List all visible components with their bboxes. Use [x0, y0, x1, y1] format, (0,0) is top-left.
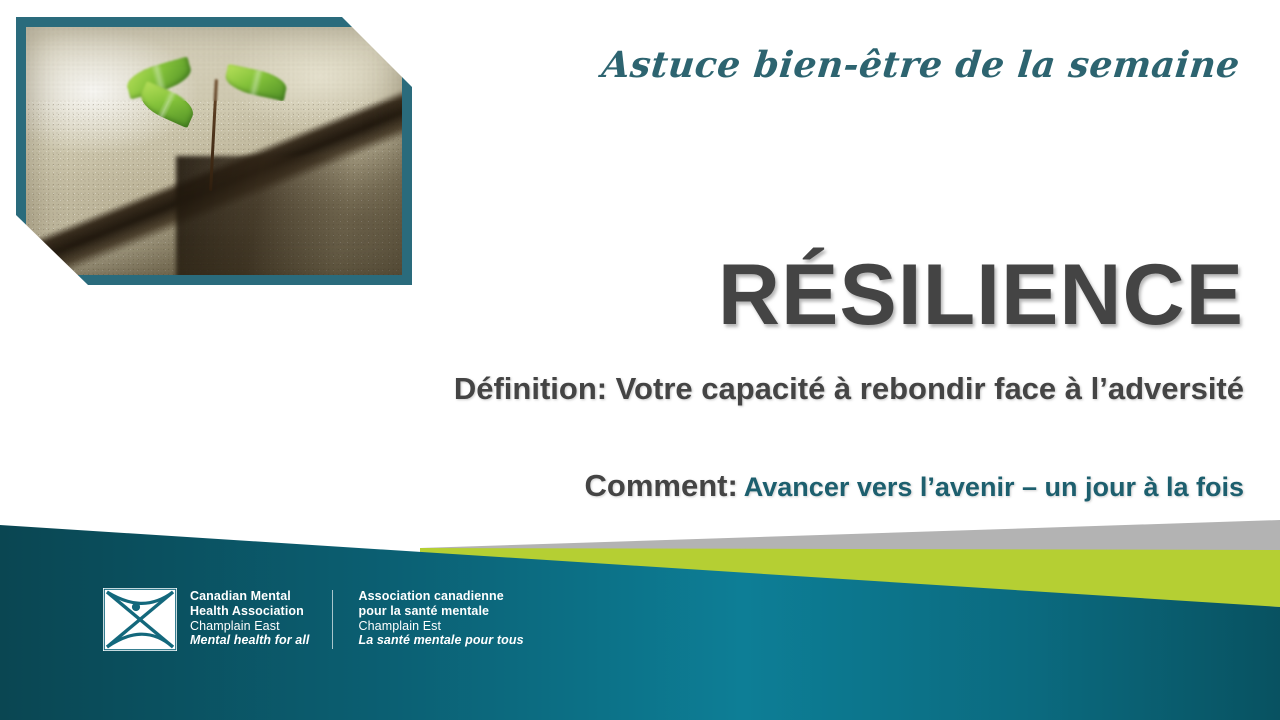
banner-gray-wedge: [420, 520, 1280, 550]
comment-row: Comment:Avancer vers l’avenir – un jour …: [585, 468, 1245, 504]
slide-canvas: Astuce bien-être de la semaine RÉSILIENC…: [0, 0, 1280, 720]
comment-label: Comment:: [585, 468, 738, 503]
slide-kicker-title: Astuce bien-être de la semaine: [600, 44, 1242, 86]
photo-vignette: [26, 27, 402, 275]
cmha-en-line2: Health Association: [190, 604, 309, 619]
cmha-logo-text-french: Association canadienne pour la santé men…: [358, 588, 523, 648]
cmha-en-line1: Canadian Mental: [190, 589, 309, 604]
seedling-photo: [26, 27, 402, 275]
photo-frame: [16, 17, 412, 285]
cmha-figure-mark: [103, 588, 177, 651]
cmha-fr-tagline: La santé mentale pour tous: [358, 633, 523, 648]
cmha-en-line3: Champlain East: [190, 619, 309, 634]
cmha-logo-lockup: Canadian Mental Health Association Champ…: [103, 588, 524, 651]
cmha-en-tagline: Mental health for all: [190, 633, 309, 648]
cmha-logo-text-english: Canadian Mental Health Association Champ…: [190, 588, 309, 648]
logo-divider: [332, 590, 333, 649]
comment-value: Avancer vers l’avenir – un jour à la foi…: [744, 472, 1244, 502]
cmha-fr-line3: Champlain Est: [358, 619, 523, 634]
definition-text: Définition: Votre capacité à rebondir fa…: [454, 371, 1244, 407]
page-title: RÉSILIENCE: [718, 252, 1244, 338]
cmha-fr-line2: pour la santé mentale: [358, 604, 523, 619]
cmha-logo-icon: [103, 588, 177, 651]
cmha-fr-line1: Association canadienne: [358, 589, 523, 604]
